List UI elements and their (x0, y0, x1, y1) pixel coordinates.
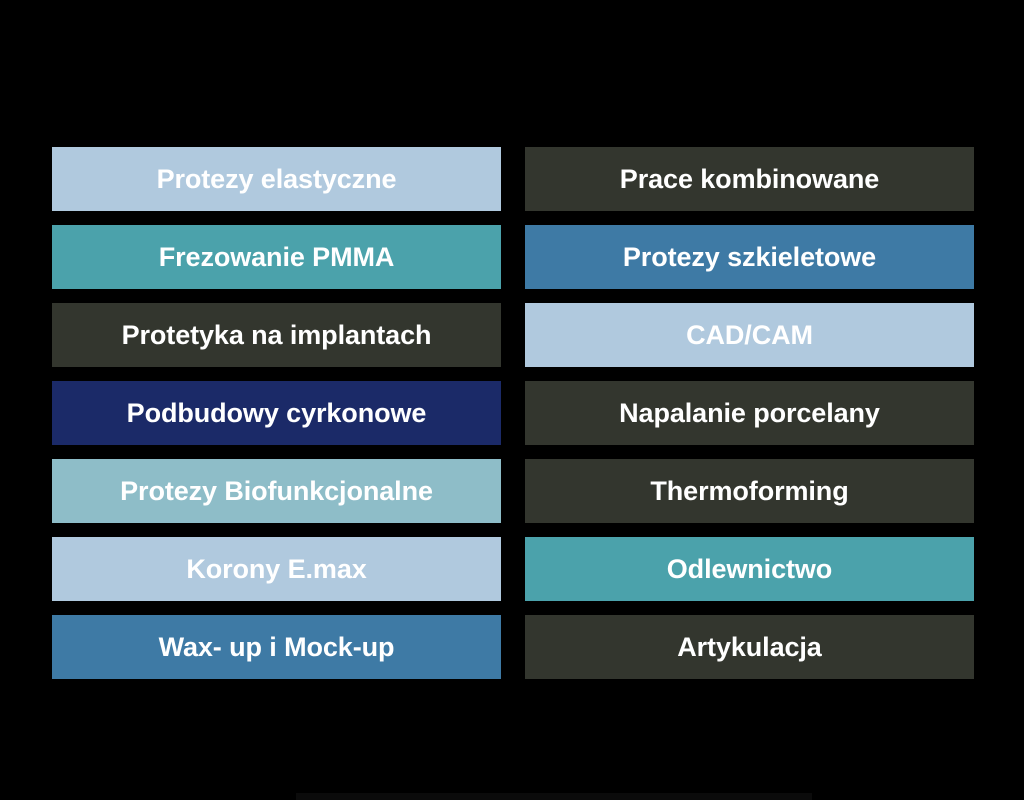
service-tile[interactable]: Odlewnictwo (525, 537, 974, 601)
service-tile[interactable]: Korony E.max (52, 537, 501, 601)
service-tile-label: Thermoforming (650, 478, 848, 505)
service-tile-label: Odlewnictwo (667, 556, 832, 583)
service-tile-label: Podbudowy cyrkonowe (127, 400, 427, 427)
service-tile[interactable]: Prace kombinowane (525, 147, 974, 211)
service-tile[interactable]: Protezy szkieletowe (525, 225, 974, 289)
service-tile[interactable]: Protezy elastyczne (52, 147, 501, 211)
service-tile-label: Wax- up i Mock-up (159, 634, 395, 661)
service-tile-label: Korony E.max (186, 556, 366, 583)
service-tile-label: Napalanie porcelany (619, 400, 880, 427)
service-tile[interactable]: Thermoforming (525, 459, 974, 523)
service-tile[interactable]: Frezowanie PMMA (52, 225, 501, 289)
bottom-strip (296, 793, 812, 800)
service-tile-label: CAD/CAM (686, 322, 813, 349)
service-tile[interactable]: Podbudowy cyrkonowe (52, 381, 501, 445)
service-tile[interactable]: Napalanie porcelany (525, 381, 974, 445)
service-tile[interactable]: Protezy Biofunkcjonalne (52, 459, 501, 523)
service-tile[interactable]: Artykulacja (525, 615, 974, 679)
service-tile[interactable]: CAD/CAM (525, 303, 974, 367)
service-tile[interactable]: Wax- up i Mock-up (52, 615, 501, 679)
service-tile-label: Protezy Biofunkcjonalne (120, 478, 433, 505)
services-grid: Protezy elastycznePrace kombinowaneFrezo… (52, 147, 974, 679)
service-tile-label: Artykulacja (677, 634, 821, 661)
service-tile-label: Protezy elastyczne (157, 166, 397, 193)
service-tile[interactable]: Protetyka na implantach (52, 303, 501, 367)
service-tile-label: Protetyka na implantach (122, 322, 432, 349)
service-tile-label: Protezy szkieletowe (623, 244, 876, 271)
page-root: Protezy elastycznePrace kombinowaneFrezo… (0, 0, 1024, 800)
service-tile-label: Prace kombinowane (620, 166, 879, 193)
service-tile-label: Frezowanie PMMA (159, 244, 395, 271)
